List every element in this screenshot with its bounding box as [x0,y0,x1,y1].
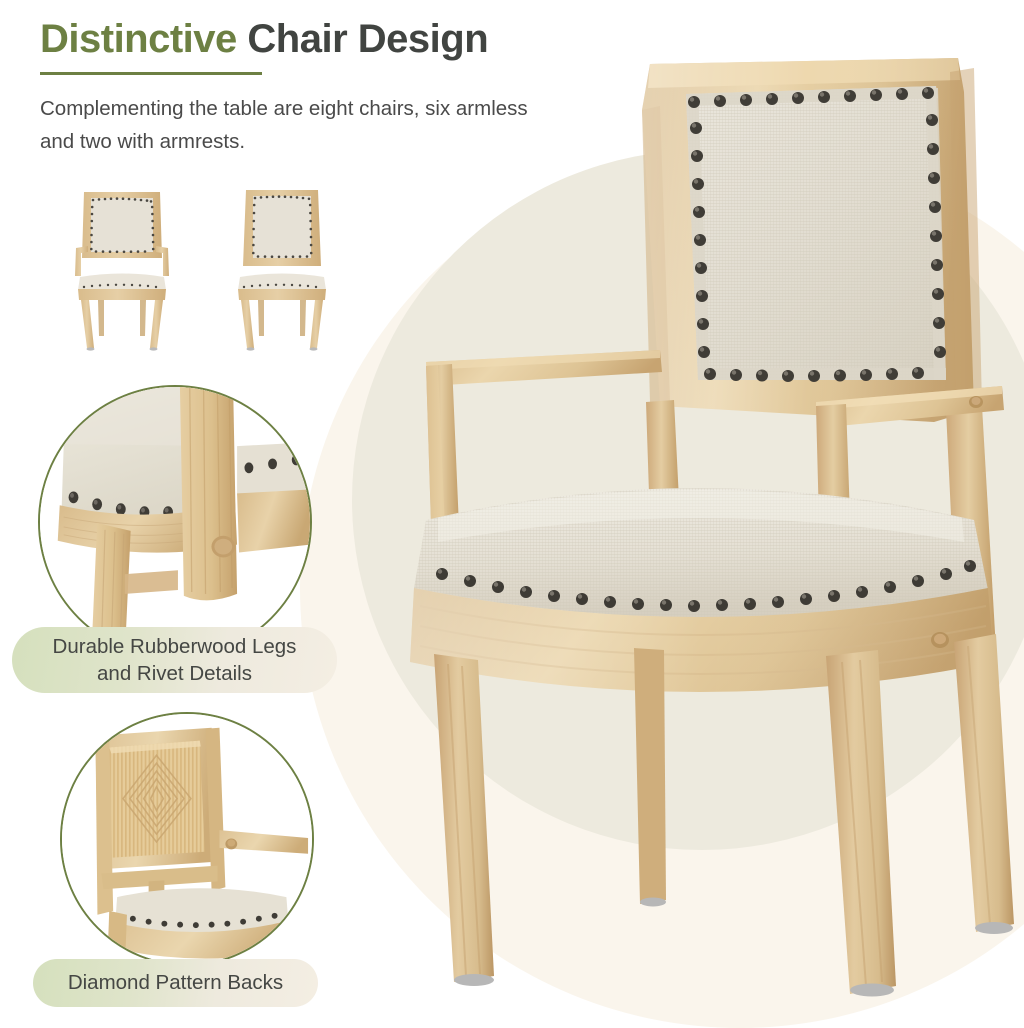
detail-inset-diamond-back: chair back showing carved diamond ribbed… [60,712,314,966]
title-underline-rule [40,72,262,75]
armchair-thumbnail [62,176,182,351]
page-title: Distinctive Chair Design [40,18,640,61]
product-feature-card: Distinctive Chair Design Complementing t… [0,0,1024,1024]
main-chair-image: light oak dining armchair with beige lin… [398,50,1018,1010]
feature-label-diamond-backs: Diamond Pattern Backs [33,959,318,1007]
title-rest: Chair Design [247,17,488,61]
page-subtitle: Complementing the table are eight chairs… [40,92,560,158]
header: Distinctive Chair Design Complementing t… [40,18,640,159]
armless-chair-thumbnail [222,176,342,351]
detail-inset-legs-rivets: close-up of rubberwood leg joint and nai… [38,385,312,659]
title-accent-word: Distinctive [40,17,237,61]
chair-thumbnail-row [62,176,352,351]
feature-label-legs-rivets: Durable Rubberwood Legs and Rivet Detail… [12,627,337,693]
